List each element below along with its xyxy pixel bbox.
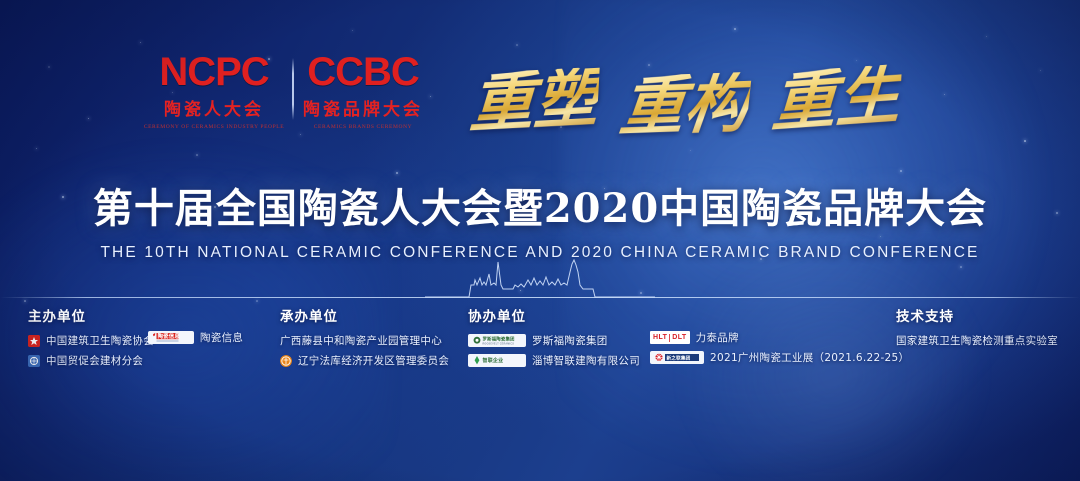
org-label: 2021广州陶瓷工业展（2021.6.22-25）	[710, 350, 909, 365]
org-label: 辽宁法库经济开发区管理委员会	[298, 353, 449, 368]
org-label: 淄博智联建陶有限公司	[532, 353, 640, 368]
calligraphy-slogan: 重塑 重构 重生	[470, 48, 900, 156]
hlt-dlt-badge-icon: HLTDLT	[650, 331, 690, 344]
org-entry: 罗斯福陶瓷集团 ROOSEVELT CERAMICS 罗斯福陶瓷集团	[468, 333, 640, 348]
svg-text:智联企业: 智联企业	[483, 357, 504, 364]
ncpc-english-name: Ceremony of Ceramics Industry People	[144, 124, 284, 130]
org-entry: 新之联集团 2021广州陶瓷工业展（2021.6.22-25）	[650, 350, 909, 365]
org-column-coorganizer-2: HLTDLT 力泰品牌 新之联集团 2021广州陶瓷工业展（2021.6.22-…	[650, 330, 909, 370]
roosevelt-ceramics-badge-icon: 罗斯福陶瓷集团 ROOSEVELT CERAMICS	[468, 334, 526, 347]
org-heading-tech-support: 技术支持	[896, 305, 1058, 325]
org-column-host: 主办单位 中国建筑卫生陶瓷协会 中国贸促会建材分会	[28, 305, 154, 373]
calligraphy-word-2: 重构	[617, 72, 752, 140]
org-entry: HLTDLT 力泰品牌	[650, 330, 909, 345]
org-label: 陶瓷信息	[200, 330, 243, 345]
org-entry: 中国贸促会建材分会	[28, 353, 154, 368]
svg-text:罗斯福陶瓷集团: 罗斯福陶瓷集团	[483, 336, 516, 343]
ccbc-acronym: CCBC	[307, 52, 419, 92]
org-heading-coorganizer: 协办单位	[468, 305, 640, 325]
conference-banner: NCPC 陶瓷人大会 Ceremony of Ceramics Industry…	[0, 0, 1080, 481]
logo-divider	[292, 58, 294, 120]
ccbc-chinese-name: 陶瓷品牌大会	[303, 95, 423, 120]
org-entry: 辽宁法库经济开发区管理委员会	[280, 353, 449, 368]
ncpc-acronym: NCPC	[159, 52, 268, 92]
ccbc-english-name: Ceramics Brands Ceremony	[314, 124, 412, 130]
svg-text:ROOSEVELT CERAMICS: ROOSEVELT CERAMICS	[483, 343, 515, 346]
ccbc-logo: CCBC 陶瓷品牌大会 Ceramics Brands Ceremony	[308, 52, 418, 130]
calligraphy-word-1: 重塑	[468, 67, 600, 138]
org-label: 广西藤县中和陶瓷产业园管理中心	[280, 333, 442, 348]
org-entry: 国家建筑卫生陶瓷检测重点实验室	[896, 333, 1058, 348]
svg-text:新之联集团: 新之联集团	[667, 354, 691, 361]
svg-text:陶瓷信息: 陶瓷信息	[158, 332, 181, 340]
skyline-divider-band	[0, 258, 1080, 298]
title-block: 第十届全国陶瓷人大会暨2020中国陶瓷品牌大会 THE 10TH NATIONA…	[0, 176, 1080, 262]
org-label: 力泰品牌	[696, 330, 739, 345]
ceramic-info-badge-icon: 陶瓷信息	[148, 331, 194, 344]
cbcsa-emblem-icon	[28, 335, 40, 347]
org-label: 中国建筑卫生陶瓷协会	[46, 333, 154, 348]
org-label: 罗斯福陶瓷集团	[532, 333, 608, 348]
event-logo-lockup: NCPC 陶瓷人大会 Ceremony of Ceramics Industry…	[150, 52, 418, 130]
org-label: 中国贸促会建材分会	[46, 353, 143, 368]
ncpc-logo: NCPC 陶瓷人大会 Ceremony of Ceramics Industry…	[150, 52, 278, 130]
organizations-section: 主办单位 中国建筑卫生陶瓷协会 中国贸促会建材分会	[0, 305, 1080, 385]
page-title: 第十届全国陶瓷人大会暨2020中国陶瓷品牌大会	[0, 176, 1080, 234]
org-column-coorganizer: 协办单位 罗斯福陶瓷集团 ROOSEVELT CERAMICS 罗斯福陶瓷集团	[468, 305, 640, 373]
org-heading-organizer: 承办单位	[280, 305, 449, 325]
city-skyline-icon	[425, 258, 655, 298]
org-column-media: 陶瓷信息 陶瓷信息	[148, 330, 243, 350]
xinzhi-badge-icon: 新之联集团	[650, 351, 704, 364]
zhilian-badge-icon: 智联企业	[468, 354, 526, 367]
org-entry: 智联企业 淄博智联建陶有限公司	[468, 353, 640, 368]
org-entry: 广西藤县中和陶瓷产业园管理中心	[280, 333, 449, 348]
org-heading-host: 主办单位	[28, 305, 154, 325]
ncpc-chinese-name: 陶瓷人大会	[164, 95, 264, 120]
org-entry: 陶瓷信息 陶瓷信息	[148, 330, 243, 345]
ccpit-emblem-icon	[28, 355, 40, 367]
org-label: 国家建筑卫生陶瓷检测重点实验室	[896, 333, 1058, 348]
calligraphy-word-3: 重生	[770, 64, 902, 137]
org-column-organizer: 承办单位 广西藤县中和陶瓷产业园管理中心 辽宁法库经济开发区管理委员会	[280, 305, 449, 373]
faku-emblem-icon	[280, 355, 292, 367]
org-column-tech-support: 技术支持 国家建筑卫生陶瓷检测重点实验室	[896, 305, 1058, 353]
horizontal-rule	[0, 297, 1080, 298]
org-entry: 中国建筑卫生陶瓷协会	[28, 333, 154, 348]
